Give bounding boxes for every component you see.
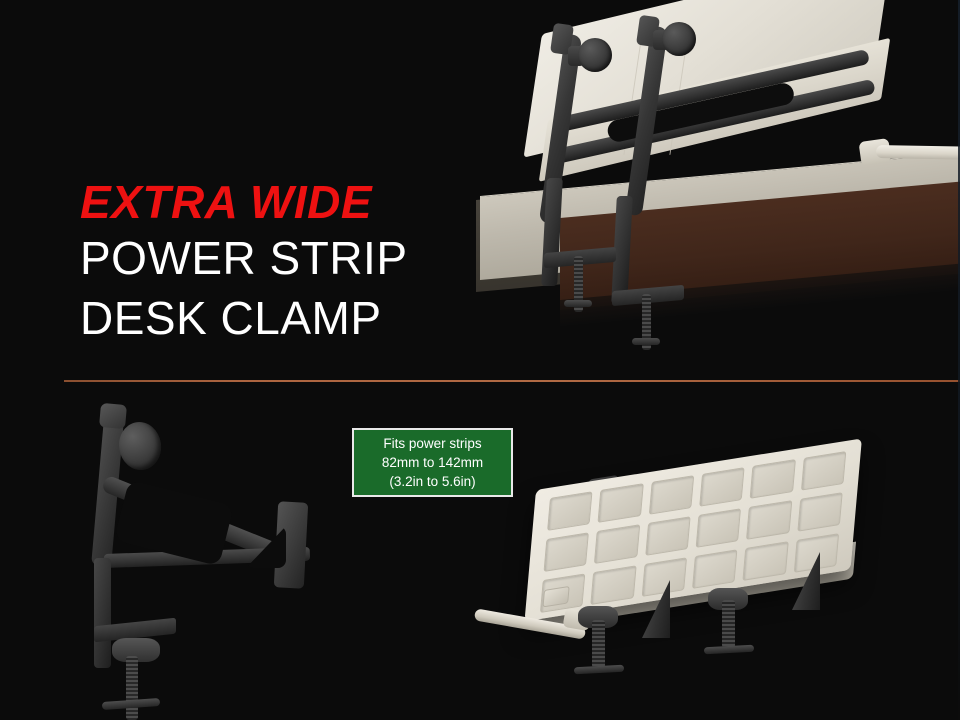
outlet — [544, 532, 590, 572]
strip-clamp-screw — [592, 620, 605, 668]
badge-line-3: (3.2in to 5.6in) — [389, 472, 475, 491]
bracket-screw — [126, 656, 138, 720]
hero-product-image — [490, 0, 960, 380]
title-line-1: POWER STRIP — [80, 228, 408, 288]
outlet — [598, 483, 644, 523]
strip-outlet-grid — [540, 451, 846, 613]
outlet — [797, 492, 843, 532]
strip-clamp-screw — [722, 600, 735, 648]
clamp-roller-knob — [662, 22, 696, 56]
outlet — [746, 500, 792, 540]
page-title: EXTRA WIDE POWER STRIP DESK CLAMP — [80, 176, 408, 348]
outlet — [594, 524, 640, 564]
outlet — [750, 459, 796, 499]
clamp-roller-knob — [578, 38, 612, 72]
power-cord — [876, 145, 960, 160]
title-eyebrow: EXTRA WIDE — [80, 176, 408, 228]
section-divider — [64, 380, 960, 382]
bracket-product-image — [80, 400, 340, 720]
bracket-top-cap — [99, 403, 127, 429]
clamp-screw-handle — [564, 300, 592, 307]
outlet — [547, 491, 593, 531]
outlet — [645, 516, 691, 556]
outlet — [801, 451, 847, 491]
strip-screw-handle — [574, 665, 624, 675]
title-line-2: DESK CLAMP — [80, 288, 408, 348]
fit-range-badge: Fits power strips 82mm to 142mm (3.2in t… — [352, 428, 513, 497]
outlet — [649, 475, 695, 515]
badge-line-2: 82mm to 142mm — [382, 453, 483, 472]
bracket-post — [94, 558, 111, 668]
strip-product-image — [500, 470, 920, 720]
badge-line-1: Fits power strips — [383, 434, 481, 453]
clamp-screw-handle — [632, 338, 660, 345]
outlet — [699, 467, 745, 507]
outlet — [696, 508, 742, 548]
product-slide: EXTRA WIDE POWER STRIP DESK CLAMP Fits p… — [0, 0, 960, 720]
strip-screw-handle — [704, 645, 754, 655]
